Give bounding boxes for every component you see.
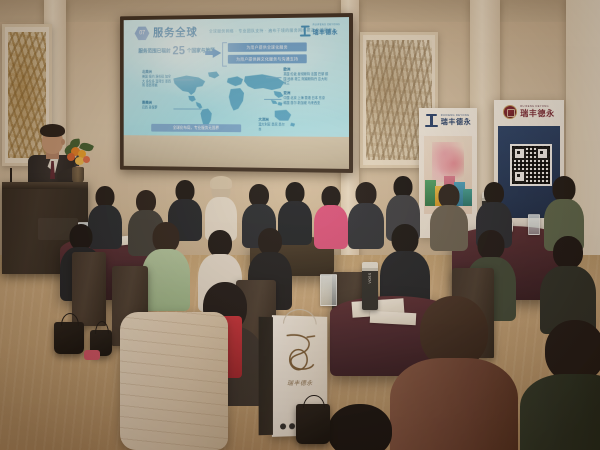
slide-title: 服务全球 (153, 24, 198, 40)
presentation-slide: 07 服务全球 全球服务网络 · 专业团队支持 · 遍布于境的服务网络覆盖全球客… (124, 17, 349, 137)
tote-bag-subtitle: 瑞丰德永 (272, 378, 327, 387)
slide-pill-1: 为用户提供全球化服务 (228, 42, 307, 52)
region-title: 欧洲 (283, 67, 328, 72)
audience-person (430, 184, 468, 250)
map-region-asia: 亚洲 中国 北京 上海 香港 日本 东京 韩国 首尔 新加坡 马来西亚 (283, 91, 328, 105)
person-head (208, 230, 232, 257)
region-cities: 美国 纽约 洛杉矶 加拿大 多伦多 温哥华 墨西哥 墨西哥城 (142, 75, 171, 87)
bracket (222, 42, 227, 66)
bottle-label: VOSS (368, 270, 372, 286)
presenter-hair (40, 124, 65, 137)
flower-vase (72, 167, 84, 183)
slide-logo-en: RUIFENG DEYONG (313, 23, 340, 26)
banner-logo-cn: 瑞丰德永 (520, 108, 554, 119)
qr-finder (536, 147, 549, 160)
handbag-on-floor (54, 322, 84, 354)
person-head (545, 320, 600, 382)
person-torso (520, 374, 600, 450)
banner-logo: RUIFENG DEYONG 瑞丰德永 (419, 113, 477, 127)
region-title: 北美洲 (142, 70, 173, 74)
leader-line (264, 99, 281, 100)
person-torso (348, 203, 384, 249)
person-head (328, 404, 392, 450)
region-cities: 中国 北京 上海 香港 日本 东京 韩国 首尔 新加坡 马来西亚 (283, 96, 325, 104)
slide-brand-logo: RUIFENG DEYONG 瑞丰德永 (300, 23, 340, 36)
map-region-oceania: 大洋洲 澳大利亚 悉尼 墨尔本 (258, 118, 287, 132)
region-title: 南美洲 (142, 101, 173, 105)
banquet-chair (72, 252, 106, 326)
beanie-hat (210, 176, 232, 189)
badge-dot (289, 423, 295, 429)
podium-top-surface (2, 182, 88, 189)
region-title: 大洋洲 (258, 118, 287, 122)
pink-shoe (84, 350, 100, 360)
map-region-south-america: 南美洲 巴西 圣保罗 (142, 101, 173, 111)
slide-footer-banner: 全球化布局，专业服务无国界 (151, 124, 241, 132)
cream-puffy-jacket (120, 312, 228, 450)
person-torso (430, 205, 468, 251)
scale-balance-icon (425, 113, 438, 127)
audience-person-front (520, 320, 600, 450)
qr-finder (513, 170, 526, 183)
handbag-on-floor (296, 404, 330, 444)
projection-screen: 07 服务全球 全球服务网络 · 专业团队支持 · 遍布于境的服务网络覆盖全球客… (120, 13, 353, 173)
person-torso (142, 249, 190, 311)
water-glass (320, 274, 337, 306)
seminar-room-photo: 07 服务全球 全球服务网络 · 专业团队支持 · 遍布于境的服务网络覆盖全球客… (0, 0, 600, 450)
region-cities: 巴西 圣保罗 (142, 106, 157, 110)
screen-surface: 07 服务全球 全球服务网络 · 专业团队支持 · 遍布于境的服务网络覆盖全球客… (124, 17, 349, 169)
headline-prefix: 服务范围已辐射 (138, 48, 170, 55)
headline-number: 25 (172, 46, 184, 55)
tote-bag-side-panel (259, 317, 273, 436)
leader-line (173, 108, 201, 109)
flower-arrangement (62, 139, 96, 181)
slide-pill-2: 为用户提供跨文化服务与沟通支持 (228, 54, 307, 63)
audience-person (348, 182, 384, 248)
region-title: 亚洲 (283, 91, 328, 95)
leader-line (173, 79, 194, 80)
person-head (478, 230, 505, 260)
water-bottle: VOSS (362, 262, 378, 310)
scale-balance-icon (300, 24, 311, 36)
region-cities: 英国 伦敦 曼彻斯特 法国 巴黎 德国 柏林 荷兰 阿姆斯特丹 意大利 米兰 (283, 72, 328, 85)
badge-dot (280, 423, 286, 429)
region-cities: 澳大利亚 悉尼 墨尔本 (258, 123, 284, 131)
slide-number-badge: 07 (135, 27, 150, 41)
banner-logo-cn: 瑞丰德永 (441, 117, 471, 127)
arrow-right-icon (213, 48, 221, 58)
flower-petal (83, 156, 90, 163)
map-region-north-america: 北美洲 美国 纽约 洛杉矶 加拿大 多伦多 温哥华 墨西哥 墨西哥城 (142, 70, 173, 88)
screen-lower-blank (124, 135, 349, 169)
slide-headline: 服务范围已辐射 25 个国家与地区 (138, 46, 215, 55)
audience-person (540, 236, 596, 330)
person-head (258, 228, 282, 255)
person-torso (314, 205, 348, 249)
tote-bag-logo-icon (282, 332, 319, 376)
seal-emblem-icon (503, 105, 517, 119)
qr-finder (513, 147, 526, 160)
leader-line (266, 77, 281, 78)
water-glass (528, 214, 540, 235)
banner-logo: RUIFENG DEYONG 瑞丰德永 (494, 105, 564, 119)
person-head (553, 236, 583, 269)
audience-person-sage (142, 222, 190, 308)
flower-petal (67, 153, 75, 161)
map-region-europe: 欧洲 英国 伦敦 曼彻斯特 法国 巴黎 德国 柏林 荷兰 阿姆斯特丹 意大利 米… (283, 67, 328, 86)
person-head (392, 224, 419, 254)
audience-person-magenta (314, 186, 348, 248)
slide-logo-cn: 瑞丰德永 (313, 27, 340, 36)
